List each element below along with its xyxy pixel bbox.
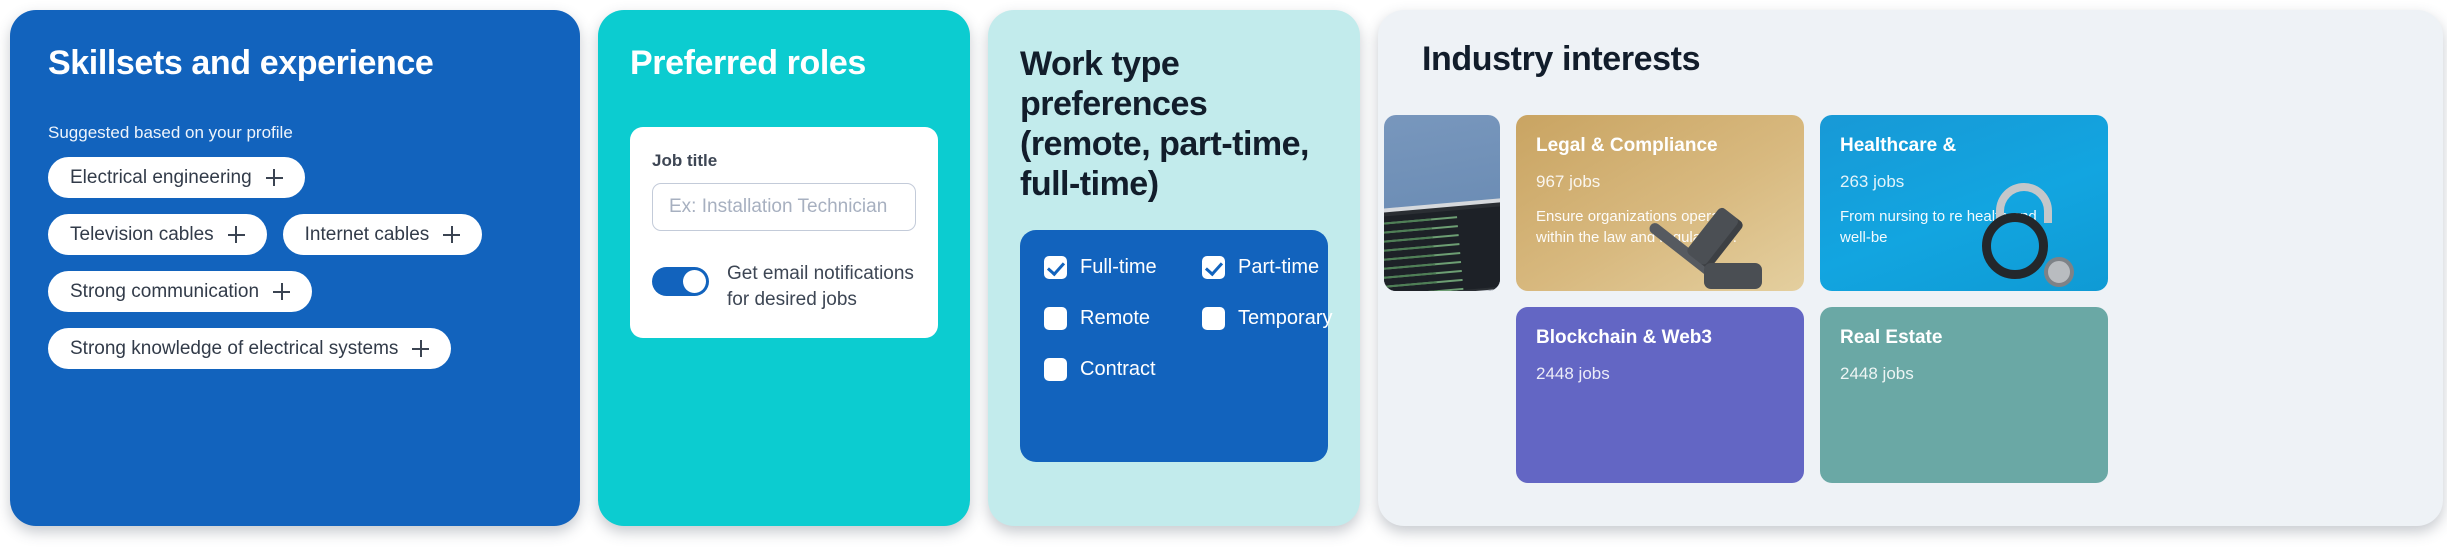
skill-pill-row: Television cables Internet cables: [48, 214, 542, 255]
checkbox-item-contract[interactable]: Contract: [1044, 358, 1202, 381]
code-editor-icon: [1384, 205, 1500, 291]
checkbox-label: Part-time: [1238, 256, 1319, 279]
checkbox-label: Full-time: [1080, 256, 1157, 279]
laptop-icon: [1384, 196, 1500, 291]
card-industry-interests: Industry interests Legal & Compliance 96…: [1378, 10, 2443, 526]
skill-pill-strong-knowledge-of-electrical-systems[interactable]: Strong knowledge of electrical systems: [48, 328, 451, 369]
work-type-options: Full-time Part-time Remote Temporary Con: [1044, 256, 1304, 381]
plus-icon[interactable]: [266, 169, 283, 186]
email-notifications-row: Get email notifications for desired jobs: [652, 261, 916, 312]
plus-icon[interactable]: [273, 283, 290, 300]
card-board: Skillsets and experience Suggested based…: [0, 0, 2447, 547]
tile-title: Healthcare &: [1840, 135, 2088, 158]
gavel-icon: [1648, 179, 1796, 291]
checkbox-item-part-time[interactable]: Part-time: [1202, 256, 1332, 279]
checkbox-label: Remote: [1080, 307, 1150, 330]
job-title-label: Job title: [652, 151, 916, 171]
industry-tile-legal-compliance[interactable]: Legal & Compliance 967 jobs Ensure organ…: [1516, 115, 1804, 291]
page-title: Work type preferences (remote, part-time…: [1020, 44, 1328, 204]
tile-jobs-count: 2448 jobs: [1536, 364, 1784, 384]
skill-pill-row: Electrical engineering: [48, 157, 542, 198]
checkbox-unchecked-icon[interactable]: [1202, 307, 1225, 330]
page-title: Industry interests: [1378, 40, 2443, 79]
skill-pill-electrical-engineering[interactable]: Electrical engineering: [48, 157, 305, 198]
checkbox-unchecked-icon[interactable]: [1044, 358, 1067, 381]
checkbox-item-remote[interactable]: Remote: [1044, 307, 1202, 330]
checkbox-label: Temporary: [1238, 307, 1332, 330]
tile-title: Blockchain & Web3: [1536, 327, 1784, 350]
checkbox-checked-icon[interactable]: [1202, 256, 1225, 279]
stethoscope-icon: [1952, 179, 2100, 291]
industry-tile-healthcare[interactable]: Healthcare & 263 jobs From nursing to re…: [1820, 115, 2108, 291]
skill-pill-list: Electrical engineering Television cables…: [48, 157, 542, 369]
skill-pill-label: Strong communication: [70, 282, 259, 301]
industry-tile-grid: Legal & Compliance 967 jobs Ensure organ…: [1378, 115, 2443, 483]
skill-pill-row: Strong knowledge of electrical systems: [48, 328, 542, 369]
checkbox-checked-icon[interactable]: [1044, 256, 1067, 279]
email-notifications-label: Get email notifications for desired jobs: [727, 261, 916, 312]
industry-tile-real-estate[interactable]: Real Estate 2448 jobs: [1820, 307, 2108, 483]
page-title: Preferred roles: [630, 44, 938, 83]
email-notifications-toggle[interactable]: [652, 267, 709, 296]
industry-tile-photo[interactable]: [1384, 115, 1500, 291]
toggle-knob-icon: [683, 270, 706, 293]
card-skillsets-and-experience: Skillsets and experience Suggested based…: [10, 10, 580, 526]
tile-title: Real Estate: [1840, 327, 2088, 350]
checkbox-item-full-time[interactable]: Full-time: [1044, 256, 1202, 279]
industry-tile-blockchain-web3[interactable]: Blockchain & Web3 2448 jobs: [1516, 307, 1804, 483]
tile-jobs-count: 2448 jobs: [1840, 364, 2088, 384]
suggested-subtitle: Suggested based on your profile: [48, 123, 542, 143]
plus-icon[interactable]: [228, 226, 245, 243]
skill-pill-strong-communication[interactable]: Strong communication: [48, 271, 312, 312]
skill-pill-row: Strong communication: [48, 271, 542, 312]
checkbox-unchecked-icon[interactable]: [1044, 307, 1067, 330]
page-title: Skillsets and experience: [48, 44, 542, 83]
job-title-input[interactable]: [652, 183, 916, 231]
skill-pill-television-cables[interactable]: Television cables: [48, 214, 267, 255]
job-title-panel: Job title Get email notifications for de…: [630, 127, 938, 338]
skill-pill-label: Internet cables: [305, 225, 430, 244]
skill-pill-label: Strong knowledge of electrical systems: [70, 339, 398, 358]
plus-icon[interactable]: [412, 340, 429, 357]
checkbox-label: Contract: [1080, 358, 1156, 381]
checkbox-item-temporary[interactable]: Temporary: [1202, 307, 1332, 330]
card-work-type-preferences: Work type preferences (remote, part-time…: [988, 10, 1360, 526]
tile-title: Legal & Compliance: [1536, 135, 1784, 158]
work-type-checkbox-panel: Full-time Part-time Remote Temporary Con: [1020, 230, 1328, 462]
skill-pill-label: Electrical engineering: [70, 168, 252, 187]
card-preferred-roles: Preferred roles Job title Get email noti…: [598, 10, 970, 526]
skill-pill-internet-cables[interactable]: Internet cables: [283, 214, 483, 255]
plus-icon[interactable]: [443, 226, 460, 243]
skill-pill-label: Television cables: [70, 225, 214, 244]
